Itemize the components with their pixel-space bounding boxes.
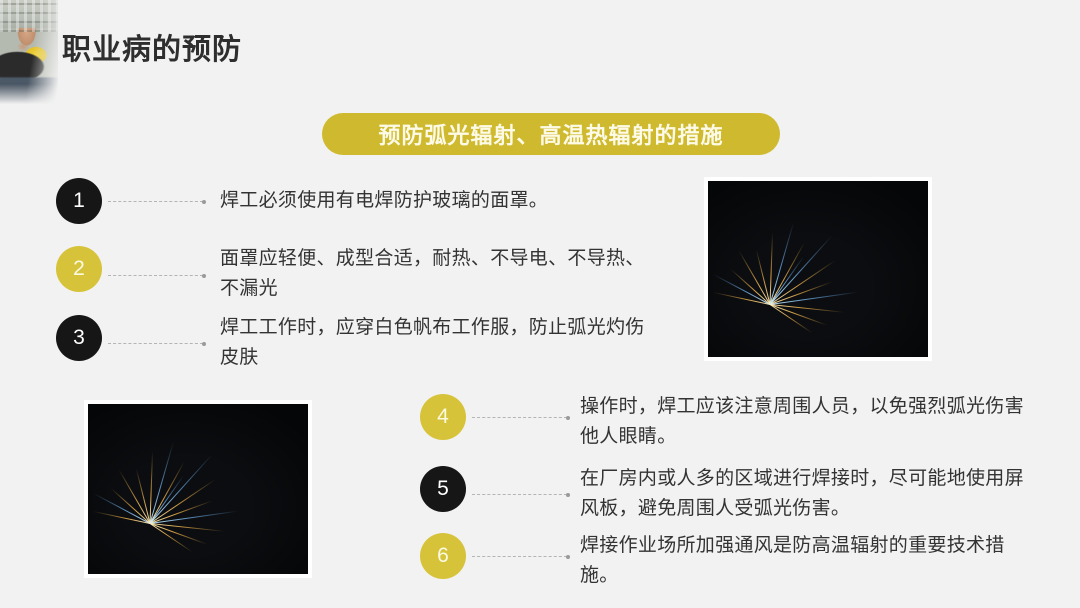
list-number-3: 3	[73, 326, 85, 350]
connector-dot-6	[566, 555, 570, 559]
list-item-text-6: 焊接作业场所加强通风是防高温辐射的重要技术措施。	[580, 531, 1030, 591]
connector-line-1	[108, 201, 203, 203]
welding-photo-bottom	[84, 400, 312, 578]
list-item-text-4: 操作时，焊工应该注意周围人员，以免强烈弧光伤害他人眼睛。	[580, 392, 1032, 452]
list-item-text-3: 焊工工作时，应穿白色帆布工作服，防止弧光灼伤皮肤	[220, 313, 660, 373]
connector-line-6	[472, 556, 567, 558]
connector-line-4	[472, 417, 567, 419]
welding-photo-top-vignette	[708, 181, 928, 357]
worker-photo-fade-bottom	[0, 84, 58, 106]
list-marker-4: 4	[420, 394, 466, 440]
list-marker-2: 2	[56, 246, 102, 292]
connector-dot-5	[566, 493, 570, 497]
list-item-text-1: 焊工必须使用有电焊防护玻璃的面罩。	[220, 186, 680, 216]
list-item-text-2: 面罩应轻便、成型合适，耐热、不导电、不导热、不漏光	[220, 244, 655, 304]
page-title: 职业病的预防	[62, 36, 242, 65]
connector-dot-2	[202, 274, 206, 278]
list-number-4: 4	[437, 405, 449, 429]
connector-line-5	[472, 494, 567, 496]
list-item-text-5: 在厂房内或人多的区域进行焊接时，尽可能地使用屏风板，避免周围人受弧光伤害。	[580, 464, 1035, 524]
welding-photo-bottom-vignette	[88, 404, 308, 574]
connector-line-2	[108, 275, 203, 277]
connector-dot-4	[566, 416, 570, 420]
list-marker-5: 5	[420, 466, 466, 512]
list-number-6: 6	[437, 544, 449, 568]
welding-photo-top	[704, 177, 932, 361]
section-banner: 预防弧光辐射、高温热辐射的措施	[322, 113, 780, 155]
worker-photo	[0, 0, 58, 106]
connector-dot-3	[202, 342, 206, 346]
list-marker-3: 3	[56, 315, 102, 361]
list-number-1: 1	[73, 189, 85, 213]
list-number-5: 5	[437, 477, 449, 501]
slide-canvas: 职业病的预防 预防弧光辐射、高温热辐射的措施 1 焊工必须使用有电焊防护玻璃的面…	[0, 0, 1080, 608]
connector-dot-1	[202, 200, 206, 204]
connector-line-3	[108, 343, 203, 345]
list-marker-1: 1	[56, 178, 102, 224]
section-banner-label: 预防弧光辐射、高温热辐射的措施	[378, 118, 723, 150]
list-marker-6: 6	[420, 533, 466, 579]
list-number-2: 2	[73, 257, 85, 281]
